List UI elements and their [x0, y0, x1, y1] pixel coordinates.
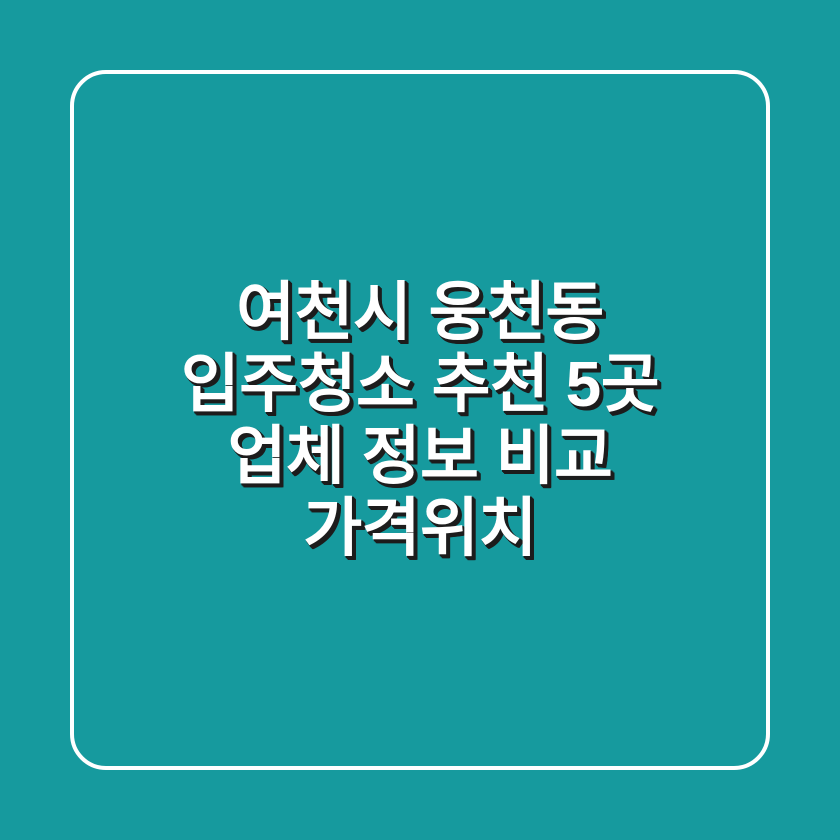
headline-line-1: 여천시 웅천동 [78, 276, 762, 348]
poster-canvas: 여천시 웅천동 입주청소 추천 5곳 업체 정보 비교 가격위치 [0, 0, 840, 840]
headline-line-4: 가격위치 [78, 492, 762, 564]
headline-line-3: 업체 정보 비교 [78, 420, 762, 492]
headline-line-2: 입주청소 추천 5곳 [78, 348, 762, 420]
headline-block: 여천시 웅천동 입주청소 추천 5곳 업체 정보 비교 가격위치 [0, 0, 840, 840]
